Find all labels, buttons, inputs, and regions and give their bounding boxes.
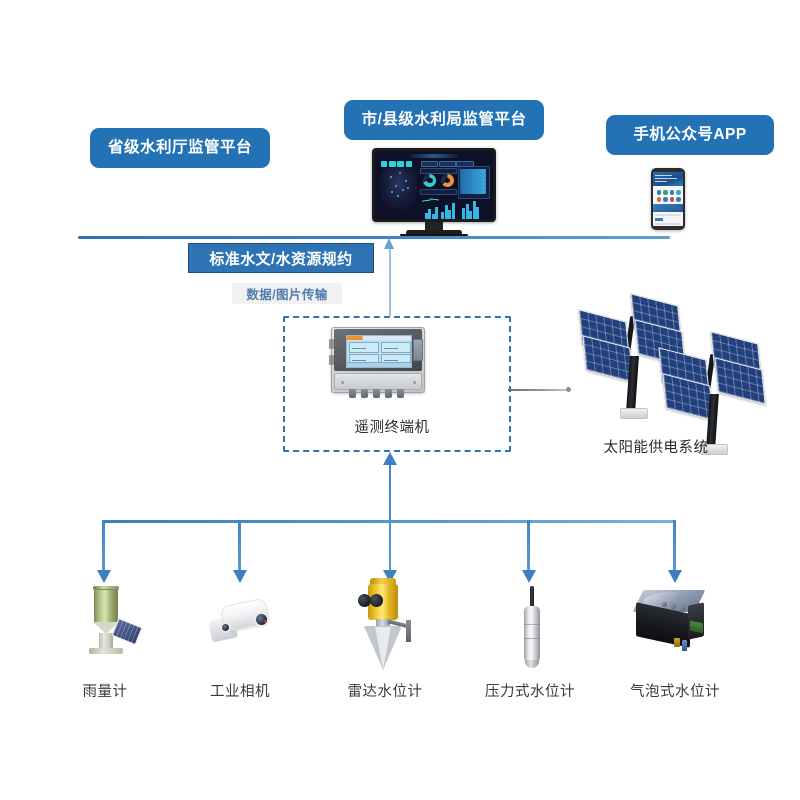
drop-shaft-rain-gauge bbox=[102, 520, 105, 572]
uplink-arrow-shaft bbox=[389, 248, 391, 316]
phone-body bbox=[651, 168, 685, 230]
drop-arrow-bubbler bbox=[668, 570, 682, 583]
rtu-lid bbox=[334, 329, 422, 371]
drop-shaft-pressure bbox=[527, 520, 530, 572]
drop-arrow-camera bbox=[233, 570, 247, 583]
platform-label-city-county: 市/县级水利局监管平台 bbox=[362, 111, 527, 128]
sensor-label-rain-gauge: 雨量计 bbox=[83, 680, 128, 701]
platform-card-mobile-app[interactable]: 手机公众号APP bbox=[606, 115, 774, 155]
platform-label-mobile-app: 手机公众号APP bbox=[633, 126, 746, 143]
sensor-label-radar-level: 雷达水位计 bbox=[348, 680, 423, 701]
dashboard-map bbox=[380, 162, 418, 210]
platform-card-province[interactable]: 省级水利厅监管平台 bbox=[90, 128, 270, 168]
rtu-db9-connector bbox=[413, 339, 423, 361]
diagram-canvas: 省级水利厅监管平台 市/县级水利局监管平台 手机公众号APP bbox=[0, 0, 800, 800]
drop-shaft-bubbler bbox=[673, 520, 676, 572]
sensor-distribution-bus bbox=[103, 520, 675, 523]
rtu-screen-topbar bbox=[347, 336, 411, 340]
rtu-caption: 遥测终端机 bbox=[355, 416, 430, 437]
rtu-sensor-link-shaft bbox=[389, 463, 392, 573]
sensor-label-bubbler-level: 气泡式水位计 bbox=[630, 680, 720, 701]
drop-arrow-rain-gauge bbox=[97, 570, 111, 583]
platform-label-province: 省级水利厅监管平台 bbox=[108, 139, 252, 156]
drop-arrow-pressure bbox=[522, 570, 536, 583]
monitor-bezel bbox=[372, 148, 496, 222]
rtu-screen-statusbar bbox=[347, 362, 411, 367]
monitor-screen bbox=[375, 151, 493, 219]
platform-card-city-county[interactable]: 市/县级水利局监管平台 bbox=[344, 100, 544, 140]
dashboard-title-bar bbox=[410, 154, 457, 159]
sensor-label-industrial-camera: 工业相机 bbox=[210, 680, 270, 701]
top-network-bus bbox=[78, 236, 670, 239]
rtu-lower-body bbox=[334, 373, 422, 390]
phone-banner bbox=[653, 172, 683, 186]
antenna-tip-icon bbox=[566, 387, 571, 392]
rtu-screen bbox=[346, 335, 412, 368]
rtu-sensor-link-arrow-up bbox=[383, 452, 397, 465]
drop-shaft-camera bbox=[238, 520, 241, 572]
protocol-label-text: 标准水文/水资源规约 bbox=[209, 248, 352, 269]
uplink-arrow-head bbox=[384, 238, 394, 249]
transfer-label-box: 数据/图片传输 bbox=[232, 283, 342, 304]
sensor-label-pressure-level: 压力式水位计 bbox=[485, 680, 575, 701]
phone-screen bbox=[653, 172, 683, 226]
transfer-label-text: 数据/图片传输 bbox=[246, 284, 327, 303]
solar-power-caption: 太阳能供电系统 bbox=[604, 436, 709, 457]
protocol-label-box: 标准水文/水资源规约 bbox=[188, 243, 374, 273]
antenna-rod bbox=[508, 389, 568, 391]
